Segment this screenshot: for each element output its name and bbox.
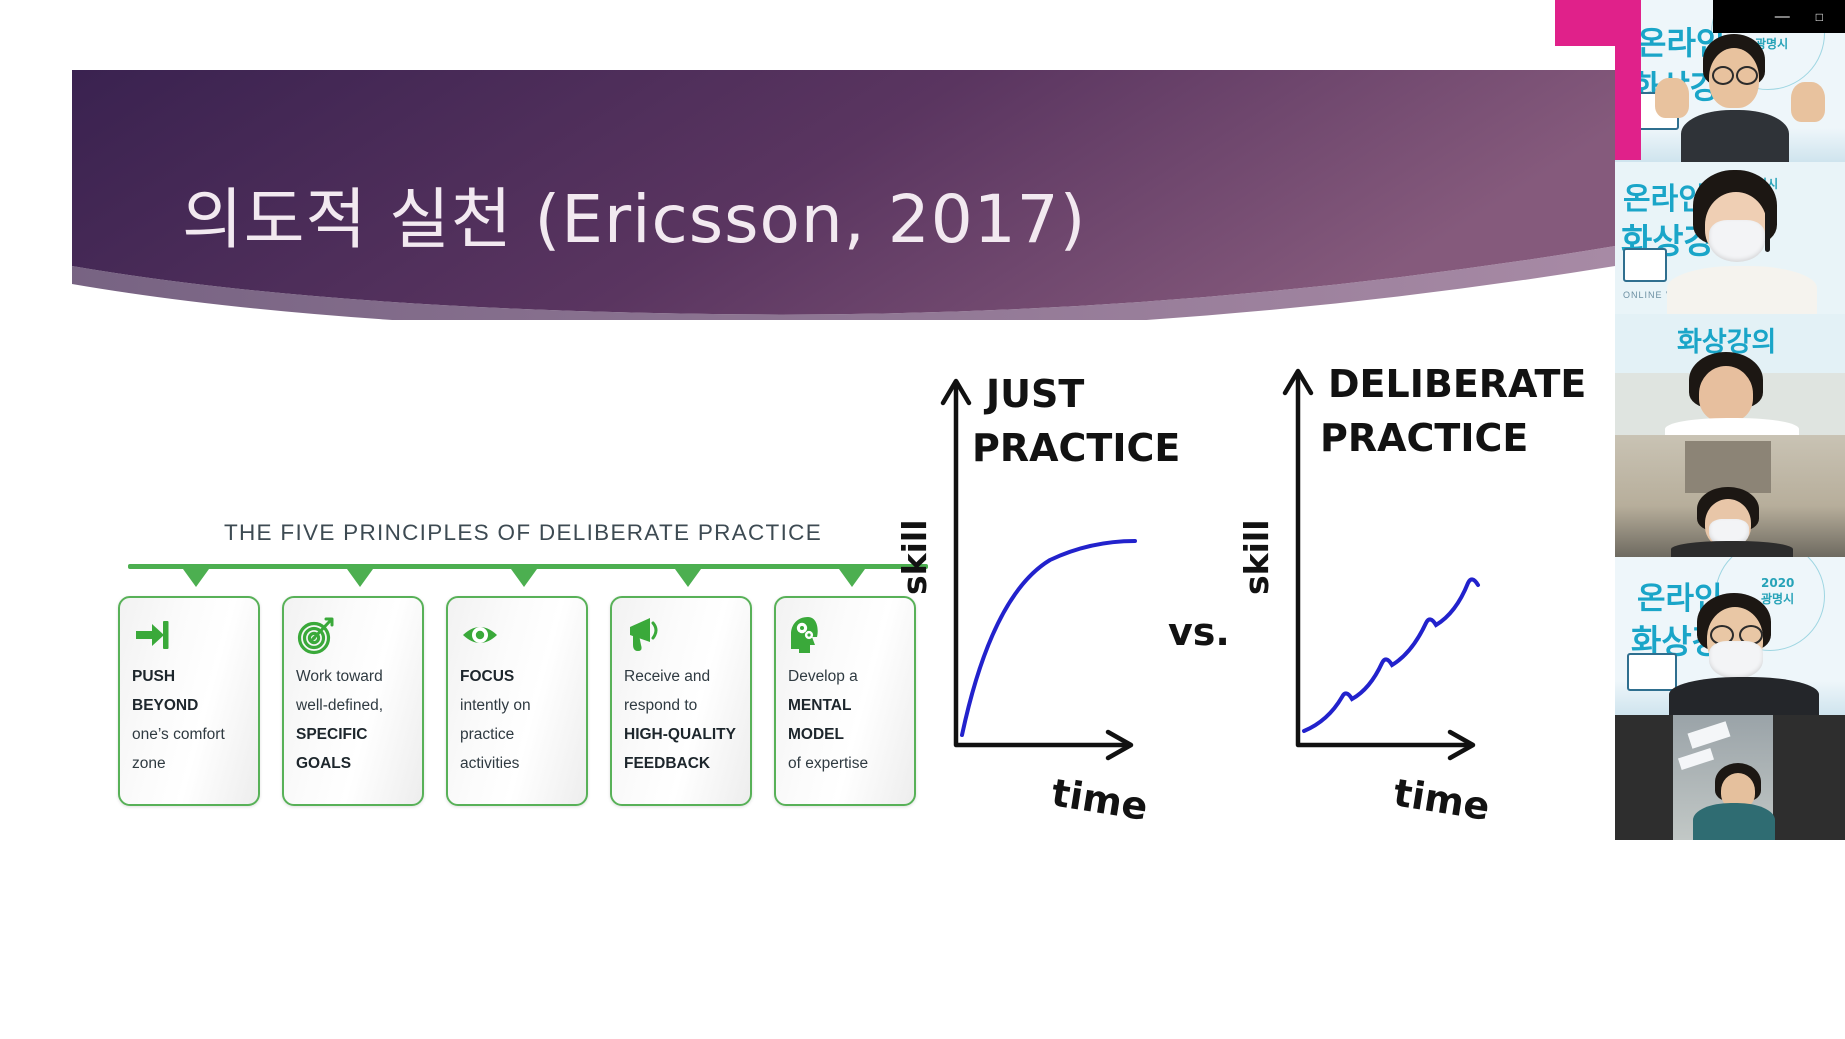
presentation-screen: 의도적 실천 (Ericsson, 2017) THE FIVE PRINCIP… [0,0,1845,1039]
slide-canvas: 의도적 실천 (Ericsson, 2017) THE FIVE PRINCIP… [0,0,1615,1039]
right-chart-title-line1: DELIBERATE [1328,362,1586,406]
card-line: of expertise [788,755,868,772]
left-chart-title-line1: JUST [983,372,1084,416]
tile-1-hand-right [1791,82,1825,122]
white-accent-strip [1533,0,1555,46]
head-gears-icon [788,612,902,658]
tile-1-avatar-torso [1681,110,1789,162]
left-chart-title-line2: PRACTICE [972,426,1180,470]
tile-5-banner-city: 광명시 [1761,593,1794,607]
tile-5-face-mask [1709,641,1763,679]
card-line: FEEDBACK [624,755,710,772]
tile-2-avatar-torso [1667,266,1817,314]
page-title: 의도적 실천 (Ericsson, 2017) [182,166,1086,262]
card-line: Receive and [624,668,710,685]
card-line: practice [460,726,514,743]
participant-tile-2[interactable]: 온라인 화상강의 광명시 ONLINE VIDEO L [1615,162,1845,314]
target-arrow-icon [296,612,410,658]
tile-1-magenta-edge [1615,0,1641,160]
practice-comparison-sketch: skill JUST PRACTICE time vs. skill DELIB… [900,345,1580,805]
tile-2-headset-boom [1765,210,1770,252]
card-line: FOCUS [460,668,514,685]
tile-1-hand-left [1655,78,1689,118]
card-line: well-defined, [296,697,383,714]
rail-tick-5 [839,569,865,587]
tile-3-avatar-torso [1665,418,1799,435]
window-titlebar: — □ [1713,0,1845,33]
magenta-accent-strip [1555,0,1615,46]
card-line: intently on [460,697,531,714]
tile-6-avatar-torso [1693,803,1775,840]
card-line: MODEL [788,726,844,743]
principle-card[interactable]: PUSH BEYOND one’s comfort zone [118,596,260,806]
left-x-axis-label: time [1049,770,1151,829]
rail-tick-4 [675,569,701,587]
card-line: HIGH-QUALITY [624,726,736,743]
participant-tile-6[interactable] [1615,715,1845,840]
participant-tile-4[interactable] [1615,435,1845,557]
tile-5-avatar-torso [1669,677,1819,715]
rail-tick-1 [183,569,209,587]
principle-card-list: PUSH BEYOND one’s comfort zone [118,596,928,806]
tile-5-banner-year: 2020 [1761,577,1794,591]
right-chart-title-line2: PRACTICE [1320,416,1528,460]
megaphone-icon [624,612,738,658]
rail-tick-2 [347,569,373,587]
principle-card[interactable]: Develop a MENTAL MODEL of expertise [774,596,916,806]
left-curve [962,541,1135,735]
card-line: Work toward [296,668,383,685]
card-line: activities [460,755,519,772]
title-banner: 의도적 실천 (Ericsson, 2017) [72,70,1615,320]
card-text: Develop a MENTAL MODEL of expertise [788,662,902,779]
card-text: FOCUS intently on practice activities [460,662,574,779]
maximize-icon[interactable]: □ [1816,11,1823,23]
participant-tile-5[interactable]: 온라인 화상강의 2020 광명시 [1615,557,1845,715]
tile-1-glasses-left [1712,66,1734,85]
card-line: MENTAL [788,697,851,714]
card-line: SPECIFIC [296,726,367,743]
video-participants-panel: — □ 온라인 화상강의 2020 광명시 [1615,0,1845,1039]
card-text: Work toward well-defined, SPECIFIC GOALS [296,662,410,779]
card-line: PUSH [132,668,175,685]
right-x-axis-label: time [1391,770,1493,829]
minimize-icon[interactable]: — [1775,9,1790,24]
tile-3-avatar-face [1699,366,1753,422]
left-y-axis-label: skill [895,519,934,595]
card-text: PUSH BEYOND one’s comfort zone [132,662,246,779]
card-line: respond to [624,697,697,714]
rail-tick-3 [511,569,537,587]
card-line: Develop a [788,668,858,685]
infographic-heading: THE FIVE PRINCIPLES OF DELIBERATE PRACTI… [118,520,928,546]
card-line: one’s comfort [132,726,225,743]
deliberate-practice-infographic: THE FIVE PRINCIPLES OF DELIBERATE PRACTI… [118,520,928,830]
principle-card[interactable]: FOCUS intently on practice activities [446,596,588,806]
panel-empty-area [1615,840,1845,1039]
just-practice-chart: skill JUST PRACTICE time [895,372,1180,829]
tile-1-glasses-right [1736,66,1758,85]
card-line: BEYOND [132,697,198,714]
card-text: Receive and respond to HIGH-QUALITY FEED… [624,662,738,779]
card-line: zone [132,755,166,772]
principle-card[interactable]: Work toward well-defined, SPECIFIC GOALS [282,596,424,806]
tile-4-furniture [1685,441,1771,493]
participant-tile-3[interactable]: 화상강의 [1615,314,1845,435]
principle-card[interactable]: Receive and respond to HIGH-QUALITY FEED… [610,596,752,806]
deliberate-practice-chart: skill DELIBERATE PRACTICE time [1237,362,1586,829]
right-curve [1304,579,1478,731]
card-line: GOALS [296,755,351,772]
tile-4-avatar-torso [1671,541,1793,557]
tile-2-face-mask [1709,220,1765,262]
push-arrow-icon [132,612,246,658]
right-y-axis-label: skill [1237,519,1276,595]
vs-label: vs. [1168,610,1230,654]
eye-icon [460,612,574,658]
